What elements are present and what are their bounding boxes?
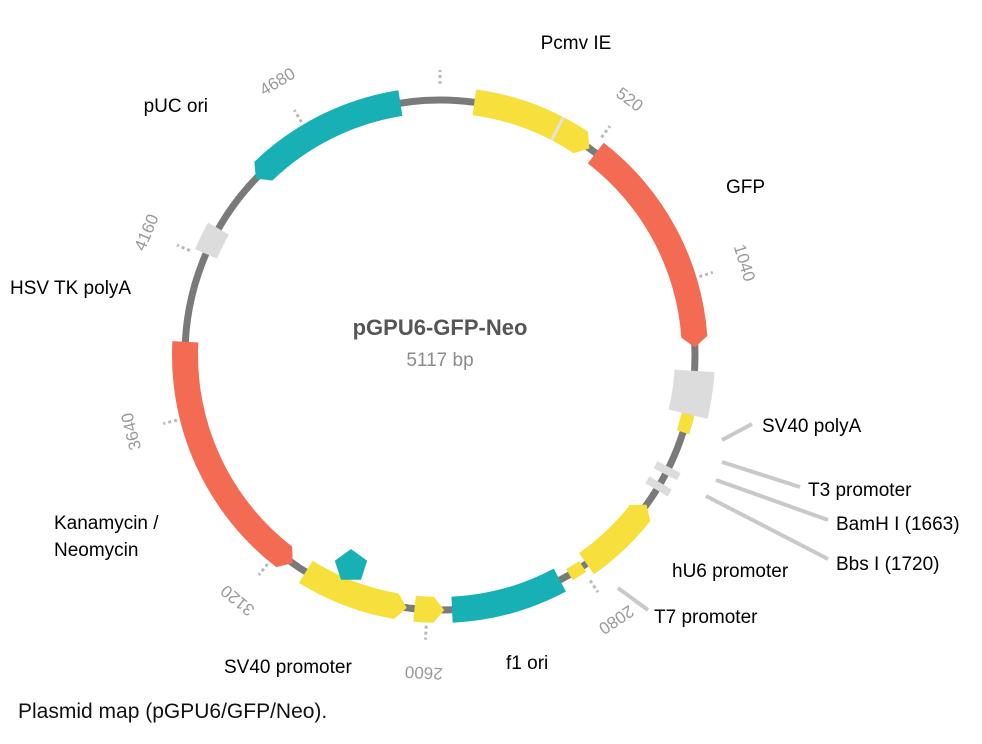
feature-label: T7 promoter [654, 607, 758, 628]
plasmid-map-svg: 5201040208026003120364041604680 SV40 pol… [0, 0, 982, 744]
feature-arc [413, 596, 444, 623]
leader-lines-group [618, 424, 828, 610]
feature-arc [669, 370, 715, 419]
feature-label: hU6 promoter [672, 561, 789, 582]
feature-label: BamH I (1663) [836, 514, 960, 535]
feature-arc [588, 143, 708, 348]
tick-label: 4160 [131, 211, 163, 253]
feature-labels-group: SV40 polyAT3 promoterBamH I (1663)Bbs I … [10, 33, 960, 678]
tick-label: 520 [612, 84, 646, 116]
tick-label: 4680 [256, 64, 298, 100]
restriction-site-mark [656, 465, 679, 477]
feature-label: SV40 promoter [224, 657, 352, 678]
tick-label: 1040 [730, 242, 759, 284]
tick-mark [699, 272, 712, 276]
feature-label: pUC ori [144, 96, 208, 117]
tick-mark [163, 420, 177, 423]
feature-arc [473, 89, 590, 153]
feature-label: SV40 polyA [762, 416, 862, 437]
tick-labels-group: 5201040208026003120364041604680 [118, 64, 759, 683]
feature-label: Kanamycin / [54, 513, 159, 534]
tick-mark [259, 564, 268, 575]
tick-label: 2600 [404, 662, 443, 683]
figure-caption: Plasmid map (pGPU6/GFP/Neo). [18, 700, 327, 724]
plasmid-map: 5201040208026003120364041604680 SV40 pol… [0, 0, 982, 744]
tick-mark [590, 581, 598, 593]
tick-mark [177, 245, 190, 250]
tick-mark [425, 626, 426, 640]
feature-arc [677, 413, 695, 435]
plasmid-title: pGPU6-GFP-Neo [353, 315, 528, 340]
feature-label: HSV TK polyA [10, 278, 131, 299]
leader-line [722, 462, 800, 487]
tick-label: 3640 [118, 411, 146, 452]
feature-arc [195, 223, 229, 259]
feature-arc [172, 341, 293, 567]
feature-label: T3 promoter [808, 480, 912, 501]
feature-label: Bbs I (1720) [836, 554, 940, 575]
feature-arc [451, 569, 566, 623]
tick-label: 3120 [217, 581, 258, 620]
feature-label: GFP [726, 177, 765, 198]
extra-marks-group [335, 549, 367, 580]
tick-label: 2080 [595, 601, 637, 638]
leader-line [706, 496, 828, 559]
feature-arc [579, 505, 650, 575]
unlabeled-feature-mark [335, 549, 367, 580]
tick-mark [602, 126, 610, 137]
feature-label: Neomycin [54, 540, 138, 561]
feature-arc [254, 90, 402, 180]
plasmid-size-label: 5117 bp [406, 350, 473, 371]
feature-label: f1 ori [506, 653, 548, 674]
tick-mark [294, 110, 301, 122]
feature-label: Pcmv IE [541, 33, 612, 54]
leader-line [722, 424, 752, 440]
